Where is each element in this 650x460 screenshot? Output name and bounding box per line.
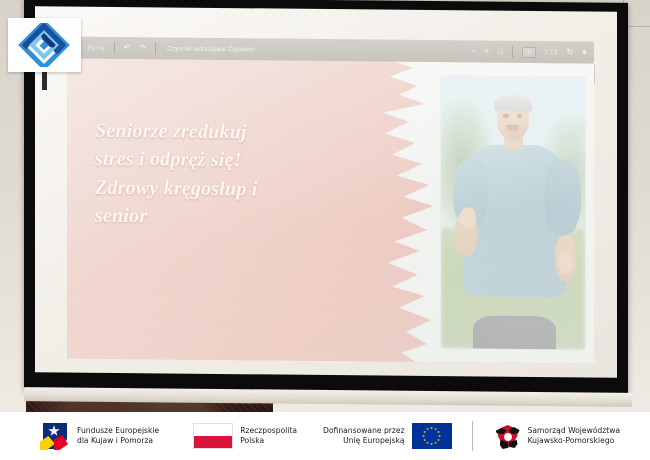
document-name-label: Czynniki wdrażające Cyjakiem [167, 45, 255, 53]
zoom-out-icon[interactable]: − [471, 47, 476, 55]
funding-line: Fundusze Europejskie [77, 426, 159, 436]
toolbar-spacer [264, 49, 462, 51]
projection-screen-surface: ✎ Rysuj ↶ ↷ Czynniki wdrażające Cyjakiem… [35, 6, 617, 378]
funding-item-fundusze-europejskie: Fundusze Europejskie dla Kujaw i Pomorza [40, 421, 159, 451]
projection-screen-frame: ✎ Rysuj ↶ ↷ Czynniki wdrażające Cyjakiem… [24, 0, 628, 395]
eu-star-icon [423, 439, 426, 442]
slide-headline-line-4: senior [95, 202, 360, 233]
slide-headline: Seniorze zredukuj stres i odpręż się! Zd… [95, 117, 360, 233]
logo-board-pole [42, 72, 47, 90]
funding-line: Dofinansowane przez [323, 426, 405, 436]
eu-star-icon [437, 431, 440, 434]
funding-line: Kujawsko-Pomorskiego [528, 436, 621, 446]
funding-line: Polska [240, 436, 297, 446]
rotate-icon[interactable]: ↻ [566, 48, 573, 56]
polska-flag-icon [193, 423, 233, 449]
spiral-logo-icon [17, 23, 71, 67]
eu-star-icon [426, 441, 429, 444]
toolbar-separator [114, 42, 115, 54]
fundusze-europejskie-logo [40, 421, 70, 451]
institution-logo-board [8, 18, 81, 72]
photo-projector-wash [441, 76, 585, 349]
eu-star-icon [434, 428, 437, 431]
slide-canvas: Seniorze zredukuj stres i odpręż się! Zd… [67, 59, 594, 364]
undo-icon[interactable]: ↶ [124, 44, 131, 52]
funding-label-polska: Rzeczpospolita Polska [240, 426, 297, 447]
eu-star-icon [434, 441, 437, 444]
toolbar-menu-label[interactable]: Rysuj [88, 44, 105, 51]
funding-label-samorzad: Samorząd Województwa Kujawsko-Pomorskieg… [528, 426, 621, 447]
slide-headline-line-2: stres i odpręż się! [95, 145, 360, 176]
slide-headline-line-1: Seniorze zredukuj [95, 117, 360, 148]
eu-star-icon [437, 439, 440, 442]
eu-flag-icon [412, 423, 452, 449]
eu-star-icon [426, 428, 429, 431]
funding-label-ue: Dofinansowane przez Unię Europejską [323, 426, 405, 447]
eu-star-icon [422, 435, 425, 438]
screenshot-root: ✎ Rysuj ↶ ↷ Czynniki wdrażające Cyjakiem… [0, 0, 650, 460]
more-icon[interactable]: ● [582, 48, 587, 56]
funding-item-dofinansowane-przez-ue: Dofinansowane przez Unię Europejską [323, 423, 452, 449]
eu-star-icon [438, 435, 441, 438]
page-total-label: z 13 [545, 49, 558, 56]
kujawsko-pomorskie-crest-icon [495, 422, 521, 450]
slide-headline-line-3: Zdrowy kręgosłup i [95, 174, 360, 205]
funding-item-samorzad-wojewodztwa: Samorząd Województwa Kujawsko-Pomorskieg… [495, 422, 621, 450]
page-number-input[interactable]: 1 [522, 46, 536, 57]
zoom-in-icon[interactable]: + [484, 48, 489, 56]
senior-jogging-photo [441, 76, 585, 349]
funding-item-rzeczpospolita-polska: Rzeczpospolita Polska [193, 423, 297, 449]
funding-label-fundusze: Fundusze Europejskie dla Kujaw i Pomorza [77, 426, 159, 447]
redo-icon[interactable]: ↷ [139, 44, 146, 52]
funding-line: Unię Europejską [323, 436, 405, 446]
funding-divider [472, 421, 473, 451]
eu-star-icon [423, 431, 426, 434]
funding-line: dla Kujaw i Pomorza [77, 436, 159, 446]
toolbar-separator [155, 42, 156, 54]
eu-star-icon [430, 443, 433, 446]
toolbar-separator [512, 46, 513, 58]
eu-funding-bar: Fundusze Europejskie dla Kujaw i Pomorza… [0, 412, 650, 460]
eu-star-icon [430, 427, 433, 430]
funding-line: Samorząd Województwa [528, 426, 621, 436]
funding-line: Rzeczpospolita [240, 426, 297, 436]
fit-icon[interactable]: □ [498, 48, 503, 56]
